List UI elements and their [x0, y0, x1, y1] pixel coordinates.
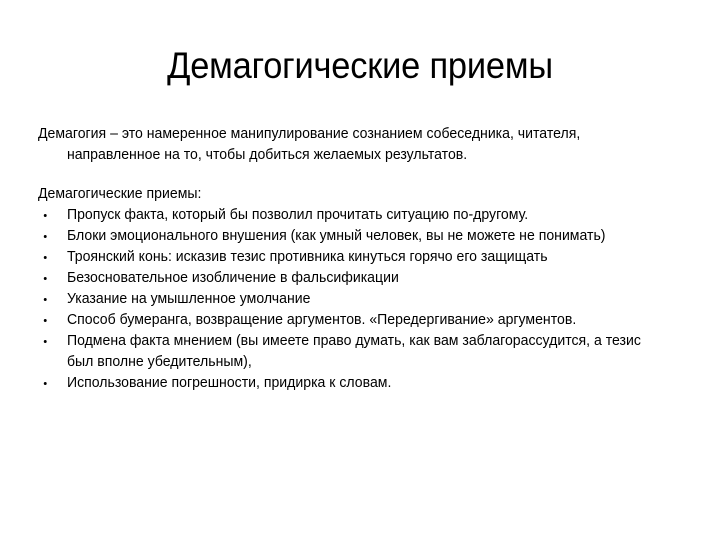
section-label: Демагогические приемы: — [38, 184, 646, 205]
demagogy-techniques-list: Пропуск факта, который бы позволил прочи… — [38, 205, 668, 394]
list-item-label: Указание на умышленное умолчание — [67, 289, 646, 310]
list-item-label: Троянский конь: исказив тезис противника… — [67, 247, 646, 268]
bullet-dot-icon — [44, 319, 47, 322]
list-item-label: Безосновательное изобличение в фальсифик… — [67, 268, 646, 289]
intro-paragraph-first-line: Демагогия – это намеренное манипулирован… — [38, 126, 580, 163]
list-item-label: Использование погрешности, придирка к сл… — [67, 373, 646, 394]
list-item: Безосновательное изобличение в фальсифик… — [38, 268, 646, 289]
list-item: Троянский конь: исказив тезис противника… — [38, 247, 646, 268]
list-item: Указание на умышленное умолчание — [38, 289, 646, 310]
list-item: Использование погрешности, придирка к сл… — [38, 373, 646, 394]
list-item-label: Подмена факта мнением (вы имеете право д… — [67, 331, 646, 373]
intro-paragraph: Демагогия – это намеренное манипулирован… — [38, 124, 646, 166]
slide-body: Демагогия – это намеренное манипулирован… — [38, 124, 668, 394]
list-item-label: Способ бумеранга, возвращение аргументов… — [67, 310, 646, 331]
list-item: Пропуск факта, который бы позволил прочи… — [38, 205, 646, 226]
list-item: Блоки эмоционального внушения (как умный… — [38, 226, 646, 247]
list-item-label: Пропуск факта, который бы позволил прочи… — [67, 205, 646, 226]
slide-canvas: Демагогические приемы Демагогия – это на… — [0, 0, 720, 540]
bullet-dot-icon — [44, 214, 47, 217]
bullet-dot-icon — [44, 277, 47, 280]
bullet-dot-icon — [44, 298, 47, 301]
list-item-label: Блоки эмоционального внушения (как умный… — [67, 226, 646, 247]
page-title: Демагогические приемы — [25, 44, 695, 88]
bullet-dot-icon — [44, 382, 47, 385]
bullet-dot-icon — [44, 235, 47, 238]
list-item: Подмена факта мнением (вы имеете право д… — [38, 331, 646, 373]
bullet-dot-icon — [44, 340, 47, 343]
list-item: Способ бумеранга, возвращение аргументов… — [38, 310, 646, 331]
bullet-dot-icon — [44, 256, 47, 259]
